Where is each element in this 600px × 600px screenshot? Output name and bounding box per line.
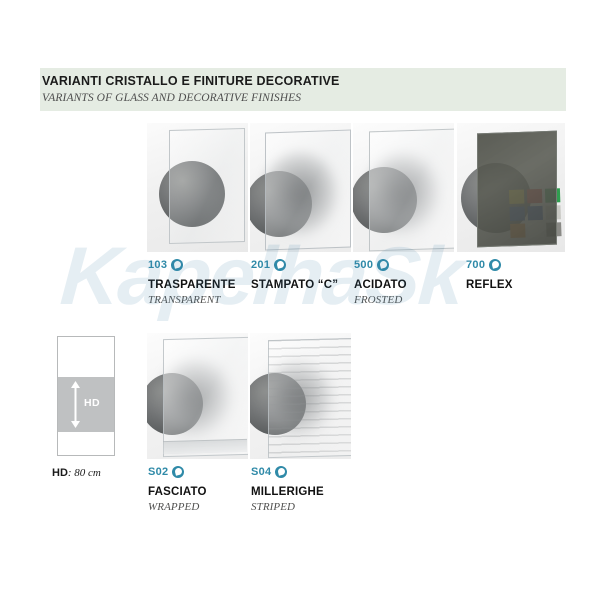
page-subtitle: VARIANTS OF GLASS AND DECORATIVE FINISHE… (42, 92, 301, 104)
glass-drop-icon (377, 259, 389, 271)
glass-pane (169, 128, 245, 244)
caption-201: 201 STAMPATO “C” (251, 259, 338, 294)
textured-glass-scene (250, 123, 351, 252)
swatch-image-103[interactable] (147, 123, 248, 252)
swatch-image-500[interactable] (353, 123, 454, 252)
code-value: S02 (148, 467, 168, 478)
glass-drop-icon (171, 259, 183, 271)
hd-inner-label: HD (84, 397, 100, 409)
hd-caption: HD: 80 cm (52, 467, 101, 479)
glass-pane (265, 129, 351, 250)
finish-name: STAMPATO “C” (251, 279, 338, 292)
finish-translation: WRAPPED (148, 501, 207, 513)
glass-pane (268, 338, 351, 458)
finish-translation: FROSTED (354, 294, 407, 306)
hd-double-arrow-icon (71, 381, 80, 428)
code-row-103: 103 (148, 259, 236, 271)
swatch-image-s04[interactable] (250, 333, 351, 459)
caption-103: 103 TRASPARENTE TRANSPARENT (148, 259, 236, 306)
caption-s04: S04 MILLERIGHE STRIPED (251, 466, 324, 513)
finish-name: FASCIATO (148, 486, 207, 499)
caption-500: 500 ACIDATO FROSTED (354, 259, 407, 306)
finish-name: REFLEX (466, 279, 513, 292)
clear-glass-scene (147, 123, 248, 252)
finish-translation: TRANSPARENT (148, 294, 236, 306)
tinted-mirror-pane (477, 131, 557, 248)
code-value: 700 (466, 260, 485, 271)
swatch-image-700[interactable] (457, 123, 565, 252)
wrapped-band (163, 439, 247, 454)
wrapped-glass-scene (147, 333, 248, 459)
hd-caption-key: HD (52, 467, 68, 479)
reflective-glass-scene (457, 123, 565, 252)
code-value: S04 (251, 467, 271, 478)
code-value: 103 (148, 260, 167, 271)
glass-drop-icon (274, 259, 286, 271)
finish-name: ACIDATO (354, 279, 407, 292)
swatch-image-201[interactable] (250, 123, 351, 252)
code-value: 500 (354, 260, 373, 271)
code-value: 201 (251, 260, 270, 271)
striped-glass-scene (250, 333, 351, 459)
frosted-glass-scene (353, 123, 454, 252)
glass-drop-icon (275, 466, 287, 478)
code-row-700: 700 (466, 259, 513, 271)
page-title: VARIANTI CRISTALLO E FINITURE DECORATIVE (42, 74, 340, 88)
glass-drop-icon (172, 466, 184, 478)
finish-translation: STRIPED (251, 501, 324, 513)
code-row-201: 201 (251, 259, 338, 271)
code-row-s04: S04 (251, 466, 324, 478)
caption-700: 700 REFLEX (466, 259, 513, 294)
hd-diagram: HD (57, 336, 115, 456)
glass-pane (369, 129, 454, 252)
code-row-s02: S02 (148, 466, 207, 478)
finish-name: MILLERIGHE (251, 486, 324, 499)
code-row-500: 500 (354, 259, 407, 271)
swatch-image-s02[interactable] (147, 333, 248, 459)
glass-drop-icon (489, 259, 501, 271)
caption-s02: S02 FASCIATO WRAPPED (148, 466, 207, 513)
finish-name: TRASPARENTE (148, 279, 236, 292)
hd-caption-value: : 80 cm (68, 467, 101, 479)
